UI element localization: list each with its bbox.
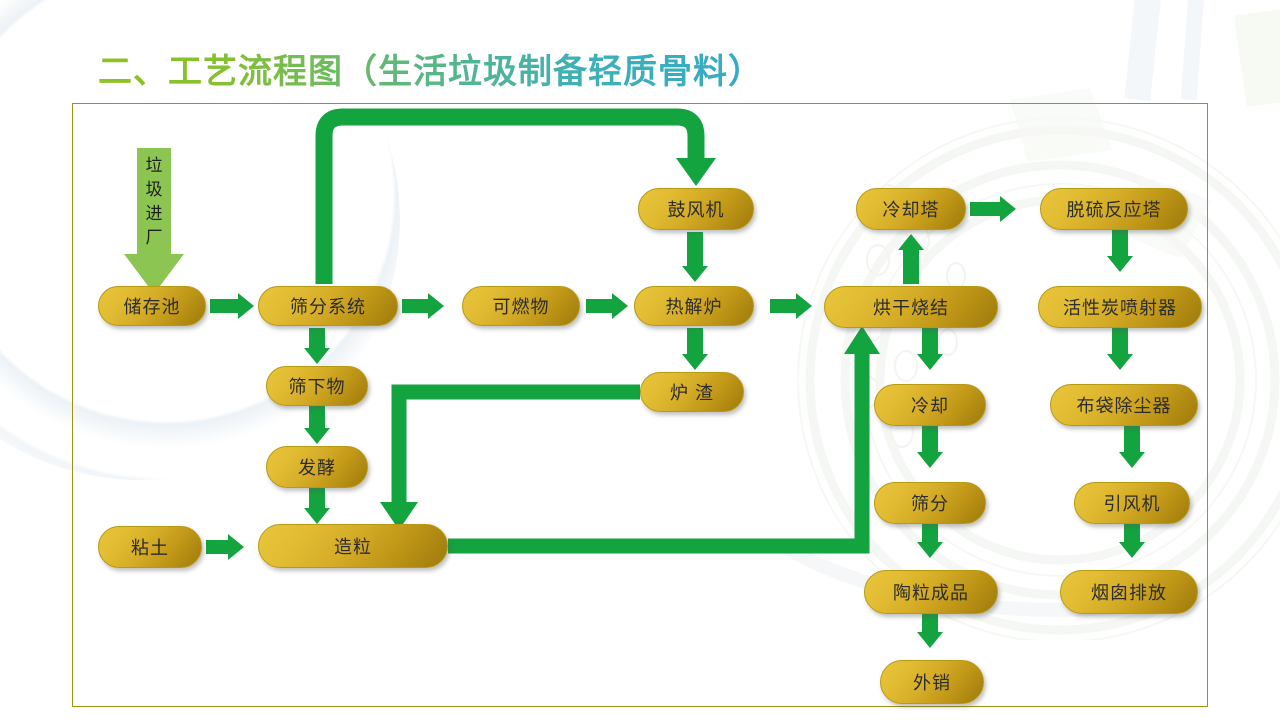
flow-node-tuoliufanyingta[interactable]: 脱硫反应塔 [1040,188,1188,230]
arrowhead-shaifenxitong-to-gufengji [676,158,716,186]
inflow-arrow: 垃 圾 进 厂 [124,148,184,296]
flow-node-label: 可燃物 [493,293,550,319]
flow-node-label: 筛分 [911,490,949,516]
flow-node-hongganshaojie[interactable]: 烘干烧结 [824,286,998,328]
arrowhead-zaoli-to-hongganshaojie [844,326,880,354]
flow-node-label: 发酵 [298,454,336,480]
flow-node-label: 炉 渣 [670,379,714,405]
flow-node-luzha[interactable]: 炉 渣 [640,372,744,412]
flow-node-yancongpaifang[interactable]: 烟囱排放 [1060,570,1198,614]
flow-node-label: 筛分系统 [290,293,366,319]
inflow-char-2: 圾 [124,178,184,202]
flow-node-huoxingtan[interactable]: 活性炭喷射器 [1038,286,1202,328]
connector-luzha-to-zaoli [399,392,640,504]
slide-canvas: 二、工艺流程图（生活垃圾制备轻质骨料） [0,0,1280,720]
flow-node-label: 粘土 [131,534,169,560]
flow-node-lengque[interactable]: 冷却 [874,384,986,426]
flow-node-label: 外销 [913,669,951,695]
flow-node-label: 筛下物 [289,373,346,399]
flow-node-shaifenxitong[interactable]: 筛分系统 [258,286,398,326]
inflow-char-4: 厂 [124,226,184,250]
inflow-arrow-label: 垃 圾 进 厂 [124,154,184,250]
flow-node-chucunchi[interactable]: 储存池 [98,286,206,326]
flow-node-shaifen[interactable]: 筛分 [874,482,986,524]
flow-node-label: 烟囱排放 [1091,579,1167,605]
flow-node-budaichuchen[interactable]: 布袋除尘器 [1050,384,1198,426]
flow-node-label: 引风机 [1104,490,1161,516]
inflow-char-1: 垃 [124,154,184,178]
flow-node-label: 陶粒成品 [893,579,969,605]
flow-node-label: 活性炭喷射器 [1063,294,1177,320]
flow-node-shaixiawu[interactable]: 筛下物 [266,366,368,406]
flow-node-gufengji[interactable]: 鼓风机 [638,188,754,230]
inflow-char-3: 进 [124,202,184,226]
flow-node-label: 烘干烧结 [873,294,949,320]
flow-node-label: 造粒 [334,533,372,559]
flow-node-yinfengji[interactable]: 引风机 [1074,482,1190,524]
flow-node-taolichengpin[interactable]: 陶粒成品 [864,570,998,614]
flow-node-niantu[interactable]: 粘土 [98,526,202,568]
flow-node-label: 冷却塔 [883,196,940,222]
flow-node-zaoli[interactable]: 造粒 [258,524,448,568]
flow-node-rejielu[interactable]: 热解炉 [634,286,754,326]
flow-node-label: 热解炉 [666,293,723,319]
flow-node-label: 冷却 [911,392,949,418]
flow-node-label: 储存池 [124,293,181,319]
flow-node-keranwu[interactable]: 可燃物 [462,286,580,326]
flow-node-label: 布袋除尘器 [1077,392,1172,418]
flow-node-waixiao[interactable]: 外销 [880,660,984,704]
flow-node-label: 脱硫反应塔 [1067,196,1162,222]
flow-node-fajiao[interactable]: 发酵 [266,446,368,488]
flow-node-lengquetai[interactable]: 冷却塔 [856,188,966,230]
flow-node-label: 鼓风机 [668,196,725,222]
